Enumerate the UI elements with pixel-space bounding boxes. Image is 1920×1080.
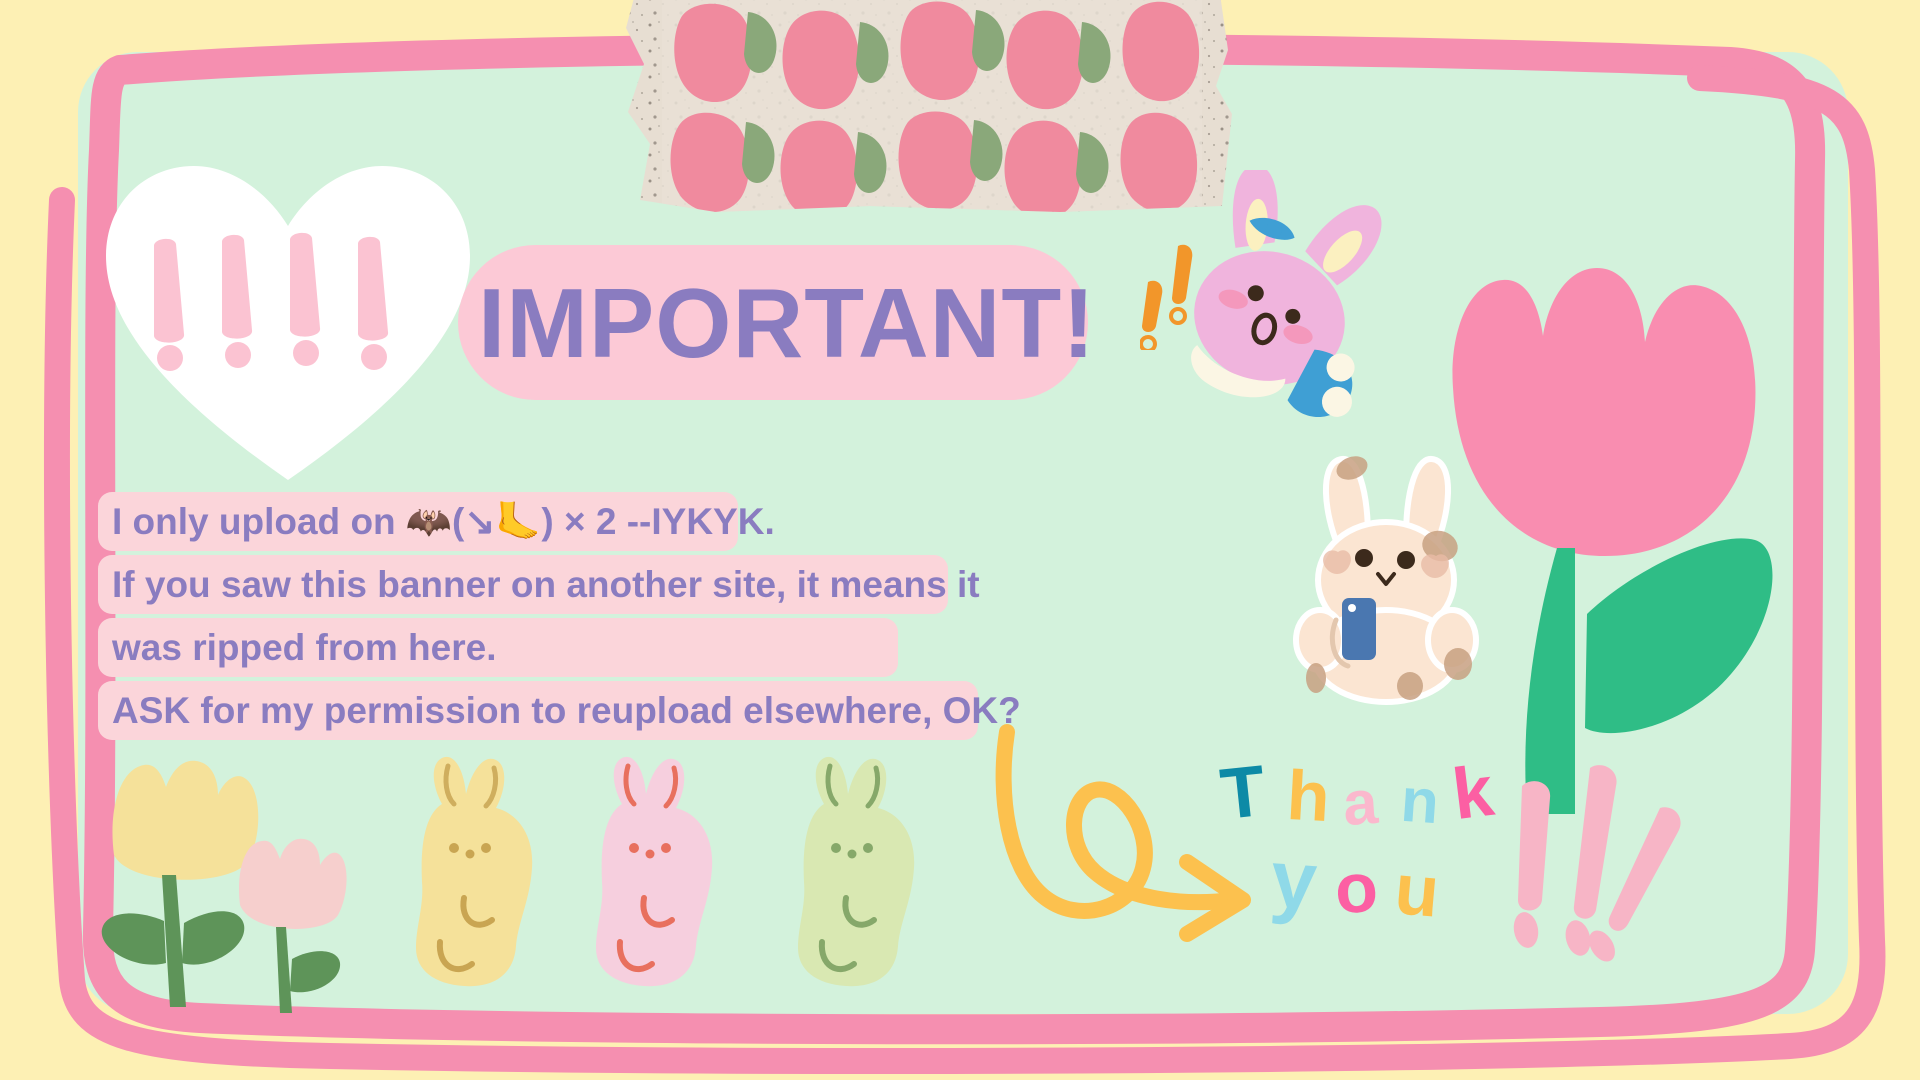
cream-bunny-sticker: [1280, 450, 1495, 710]
small-tulips-illustration: [90, 745, 350, 1015]
body-line-4-text: ASK for my permission to reupload elsewh…: [98, 681, 1035, 740]
body-line-3-text: was ripped from here.: [98, 618, 511, 677]
white-heart-with-exclamations: [98, 150, 478, 490]
ty-letter-T: T: [1217, 750, 1269, 836]
ty-letter-a: a: [1341, 767, 1380, 840]
pink-exclamation-marks: [1498, 760, 1728, 990]
ty-letter-y: y: [1268, 833, 1320, 930]
body-line-1-text: I only upload on 🦇(↘🦶) × 2 --IYKYK.: [98, 492, 789, 551]
body-line-4: ASK for my permission to reupload elsewh…: [98, 681, 1178, 740]
gummy-bunny-yellow: [408, 752, 548, 992]
gummy-bunny-pink: [588, 752, 728, 992]
body-line-2-text: If you saw this banner on another site, …: [98, 555, 994, 614]
purple-bunny-sticker: [1148, 170, 1408, 450]
body-line-3: was ripped from here.: [98, 618, 1178, 677]
gummy-bunny-green: [790, 752, 930, 992]
body-line-1: I only upload on 🦇(↘🦶) × 2 --IYKYK.: [98, 492, 1178, 551]
body-text-block: I only upload on 🦇(↘🦶) × 2 --IYKYK. If y…: [98, 492, 1178, 744]
tulip-pink: [239, 839, 347, 1013]
ty-letter-h: h: [1285, 755, 1332, 837]
ty-letter-o: o: [1333, 847, 1380, 929]
banner-canvas: IMPORTANT! I only upload on 🦇(↘🦶) × 2 --…: [0, 0, 1920, 1080]
tulip-yellow: [102, 761, 259, 1007]
body-line-2: If you saw this banner on another site, …: [98, 555, 1178, 614]
page-title: IMPORTANT!: [478, 258, 1118, 388]
ty-letter-u: u: [1392, 848, 1443, 934]
